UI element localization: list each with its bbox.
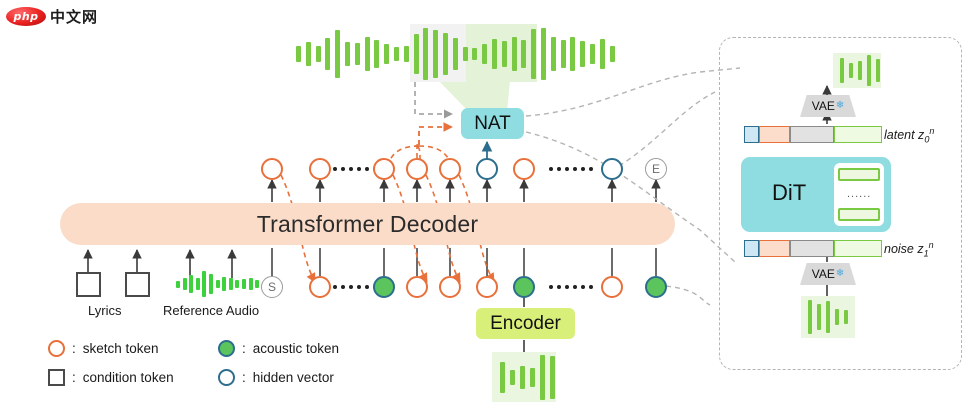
waveform-bar <box>189 275 193 292</box>
encoder-input-spectrogram <box>492 352 556 402</box>
latent-output-spectrogram <box>833 53 881 88</box>
waveform-bar <box>183 278 187 289</box>
noise-seg-blue <box>744 240 759 257</box>
noise-seg-gray <box>790 240 834 257</box>
waveform-bar <box>216 280 220 288</box>
dit-layer-dots: ...... <box>847 188 871 200</box>
sketch-token[interactable] <box>601 276 623 298</box>
waveform-bar <box>235 280 239 288</box>
dit-layer-top <box>838 168 880 181</box>
waveform-bar <box>510 370 515 385</box>
legend-label-hidden-vector: hidden vector <box>253 370 334 385</box>
noise-label-sub: 1 <box>924 249 929 259</box>
ellipsis-dots <box>549 285 593 289</box>
dit-layer-stack: ...... <box>834 163 884 226</box>
waveform-bar <box>844 310 848 324</box>
legend-item-sketch-token: : sketch token <box>48 340 159 357</box>
dit-layer-bottom <box>838 208 880 221</box>
reference-audio-waveform <box>176 270 262 298</box>
latent-label-text: latent z <box>884 128 924 142</box>
noise-input-spectrogram <box>801 296 855 338</box>
latent-seg-green <box>834 126 882 143</box>
latent-seg-blue <box>744 126 759 143</box>
latent-seg-orange <box>759 126 790 143</box>
noise-label-sup: n <box>929 240 934 250</box>
waveform-bar <box>808 300 812 334</box>
condition-token-square <box>48 369 65 386</box>
legend-colon-3: : <box>242 370 246 385</box>
legend-item-condition-token: : condition token <box>48 369 174 386</box>
waveform-bar <box>835 309 839 326</box>
legend: : sketch token : acoustic token : condit… <box>48 340 388 392</box>
snowflake-icon: ❄ <box>836 101 844 111</box>
sketch-token[interactable] <box>439 276 461 298</box>
latent-label-sub: 0 <box>924 135 929 145</box>
start-token[interactable]: S <box>261 276 283 298</box>
waveform-bar <box>520 366 525 389</box>
waveform-bar <box>876 59 880 82</box>
latent-label: latent z0n <box>884 126 934 145</box>
vae-encoder[interactable]: VAE ❄ <box>800 263 856 285</box>
waveform-bar <box>849 63 853 78</box>
snowflake-icon: ❄ <box>836 269 844 279</box>
acoustic-token[interactable] <box>645 276 667 298</box>
latent-label-sup: n <box>929 126 934 136</box>
waveform-bar <box>500 362 505 393</box>
ellipsis-dots <box>333 285 377 289</box>
waveform-bar <box>858 61 862 81</box>
acoustic-token-circle <box>218 340 235 357</box>
waveform-bar <box>176 281 180 288</box>
hidden-vector-circle <box>218 369 235 386</box>
waveform-bar <box>867 55 871 85</box>
legend-label-sketch-token: sketch token <box>83 341 159 356</box>
sketch-token[interactable] <box>476 276 498 298</box>
vae-decoder[interactable]: VAE ❄ <box>800 95 856 117</box>
noise-seg-green <box>834 240 882 257</box>
waveform-bar <box>222 277 226 291</box>
waveform-bar <box>255 280 259 288</box>
waveform-bar <box>826 301 830 332</box>
vae-decoder-label: VAE <box>812 99 835 113</box>
waveform-bar <box>840 58 844 83</box>
waveform-bar <box>242 279 246 290</box>
waveform-bar <box>229 278 233 290</box>
condition-token-lyrics-2[interactable] <box>125 272 150 297</box>
waveform-bar <box>550 356 555 399</box>
dit-label: DiT <box>772 180 806 206</box>
latent-seg-gray <box>790 126 834 143</box>
waveform-bar <box>209 274 213 294</box>
legend-colon-0: : <box>72 341 76 356</box>
waveform-bar <box>530 368 535 387</box>
encoder-module[interactable]: Encoder <box>476 308 575 339</box>
encoder-label: Encoder <box>490 313 561 335</box>
vae-encoder-label: VAE <box>812 267 835 281</box>
legend-label-condition-token: condition token <box>83 370 174 385</box>
noise-label: noise z1n <box>884 240 934 259</box>
sketch-token[interactable] <box>309 276 331 298</box>
acoustic-token[interactable] <box>373 276 395 298</box>
sketch-token-circle <box>48 340 65 357</box>
noise-token-bar <box>744 240 870 257</box>
condition-token-lyrics-1[interactable] <box>76 272 101 297</box>
noise-label-text: noise z <box>884 242 924 256</box>
waveform-bar <box>202 271 206 298</box>
acoustic-token[interactable] <box>513 276 535 298</box>
waveform-bar <box>249 278 253 291</box>
legend-colon-1: : <box>242 341 246 356</box>
latent-token-bar <box>744 126 870 143</box>
legend-item-acoustic-token: : acoustic token <box>218 340 339 357</box>
waveform-bar <box>817 304 821 330</box>
legend-item-hidden-vector: : hidden vector <box>218 369 334 386</box>
reference-audio-label: Reference Audio <box>163 303 259 318</box>
legend-colon-2: : <box>72 370 76 385</box>
lyrics-label: Lyrics <box>88 303 121 318</box>
waveform-bar <box>540 355 545 400</box>
sketch-token[interactable] <box>406 276 428 298</box>
legend-label-acoustic-token: acoustic token <box>253 341 339 356</box>
noise-seg-orange <box>759 240 790 257</box>
waveform-bar <box>196 278 200 291</box>
